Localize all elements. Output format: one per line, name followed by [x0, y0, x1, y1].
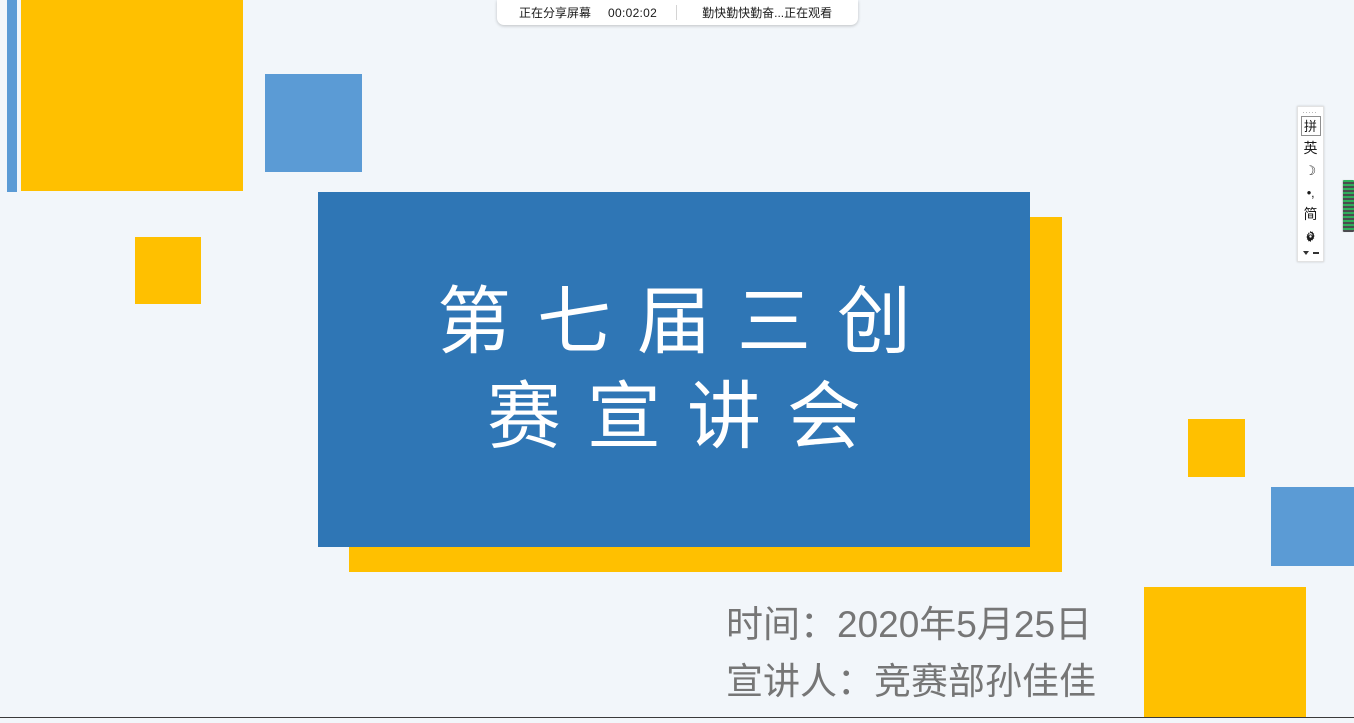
vertical-scrollbar-track[interactable] [1343, 0, 1354, 717]
slide-title-card: 第七届三创 赛宣讲会 [318, 192, 1030, 547]
english-mode-icon[interactable]: 英 [1300, 137, 1321, 159]
decor-square-yellow-small-right [1188, 419, 1245, 477]
slide-subtitle-speaker: 宣讲人：竞赛部孙佳佳 [726, 653, 1096, 710]
presentation-slide: 第七届三创 赛宣讲会 时间：2020年5月25日 宣讲人：竞赛部孙佳佳 [0, 0, 1354, 717]
slide-subtitle-date: 时间：2020年5月25日 [726, 596, 1096, 653]
decor-rect-yellow-tall-right [1030, 217, 1062, 572]
share-timer: 00:02:02 [591, 0, 657, 25]
slide-title-line-2: 赛宣讲会 [461, 370, 887, 465]
decor-square-yellow-large-topleft [21, 0, 243, 191]
ime-toolbar-footer[interactable] [1300, 247, 1321, 259]
window-bottom-edge [0, 717, 1354, 723]
minimize-icon[interactable] [1313, 252, 1319, 254]
decor-square-blue-top [265, 74, 362, 172]
slide-subtitle-block: 时间：2020年5月25日 宣讲人：竞赛部孙佳佳 [726, 596, 1096, 711]
viewer-status-label: 勤快勤快勤奋...正在观看 [677, 0, 832, 25]
decor-square-blue-bottomright [1271, 487, 1354, 566]
ime-floating-toolbar[interactable]: 拼 英 ☽ •‚ 简 [1297, 106, 1324, 262]
punctuation-mode-icon[interactable]: •‚ [1300, 181, 1321, 203]
ime-drag-handle-icon[interactable] [1303, 110, 1318, 114]
decor-bar-blue-left [7, 0, 17, 192]
decor-square-yellow-large-bottomright [1144, 587, 1306, 717]
screen-root: 第七届三创 赛宣讲会 时间：2020年5月25日 宣讲人：竞赛部孙佳佳 正在分享… [0, 0, 1354, 723]
moon-mode-icon[interactable]: ☽ [1300, 159, 1321, 181]
share-status-label: 正在分享屏幕 [497, 0, 591, 25]
chevron-down-icon[interactable] [1303, 251, 1309, 255]
screen-share-status-bar[interactable]: 正在分享屏幕 00:02:02 勤快勤快勤奋...正在观看 [497, 0, 858, 25]
simplified-chinese-icon[interactable]: 简 [1300, 203, 1321, 225]
slide-title-line-1: 第七届三创 [411, 275, 937, 370]
vertical-scrollbar-thumb[interactable] [1343, 180, 1354, 232]
pinyin-mode-icon[interactable]: 拼 [1301, 116, 1321, 136]
decor-rect-yellow-strip-bottom [349, 545, 1062, 572]
decor-square-yellow-small-left [135, 237, 201, 304]
gear-icon[interactable] [1300, 225, 1321, 247]
